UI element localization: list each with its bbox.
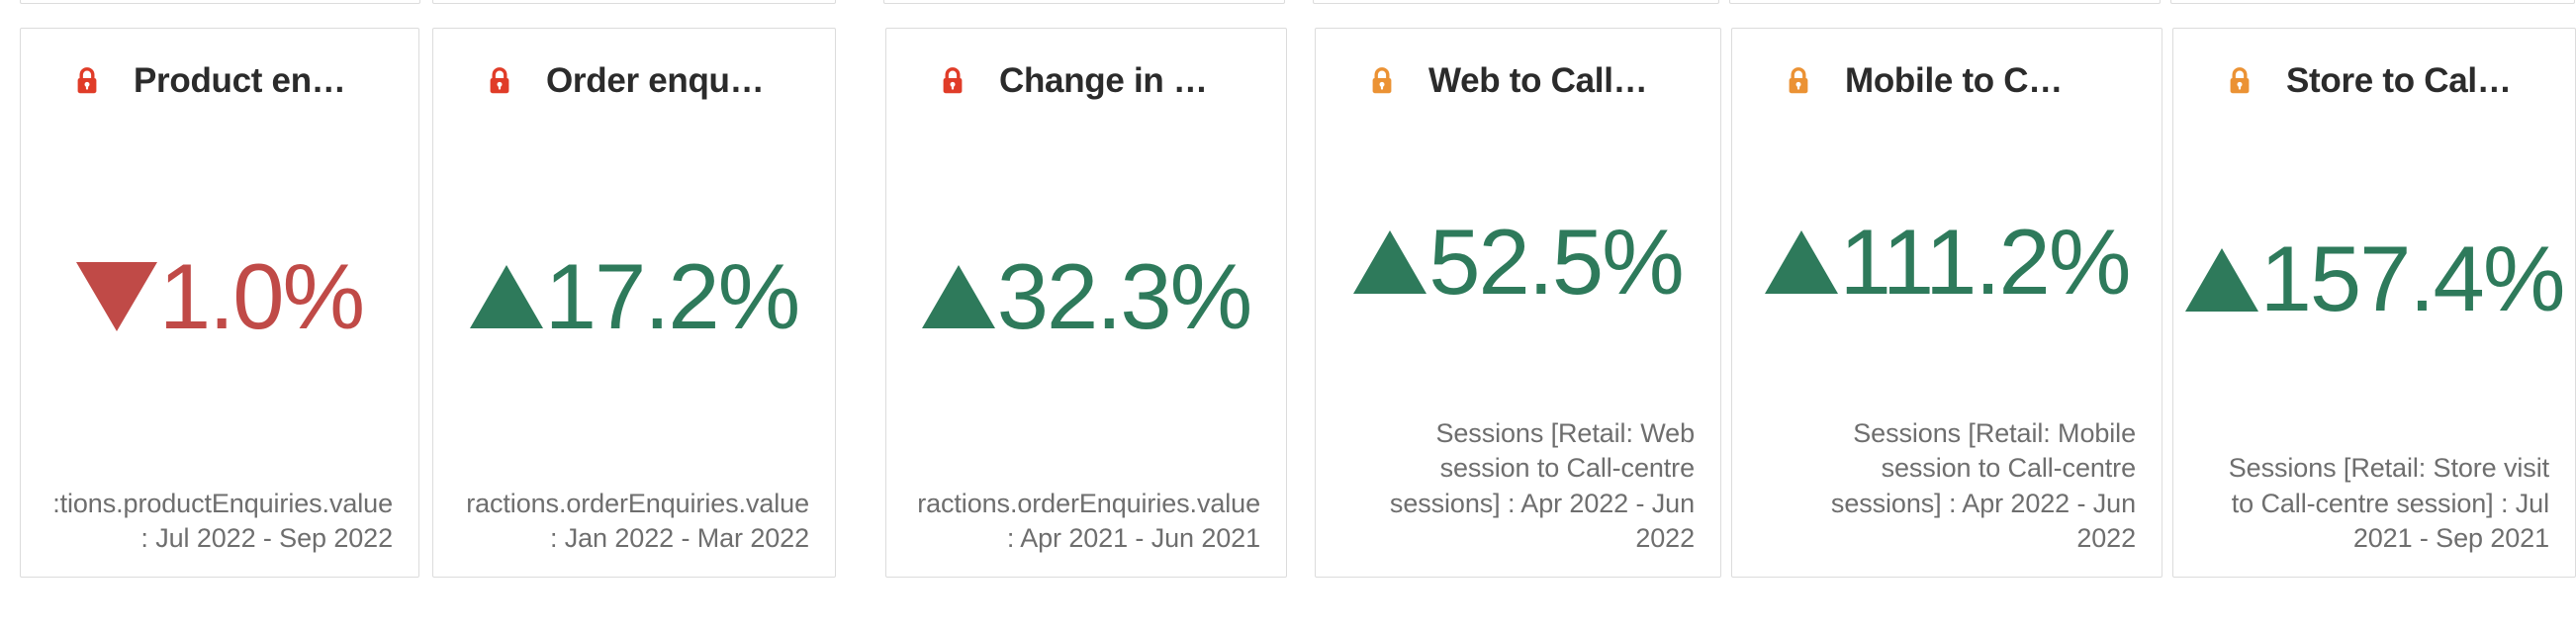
kpi-value: 32.3% — [997, 252, 1251, 341]
scorecard-tile[interactable]: Mobile to C… 111.2% Sessions [Retail: Mo… — [1731, 28, 2162, 578]
lock-icon — [74, 66, 100, 96]
tile-title: Mobile to C… — [1845, 61, 2063, 101]
footer-line: session to Call-centre — [1758, 451, 2136, 487]
tile-title: Change in … — [999, 61, 1208, 101]
footer-line: sessions] : Apr 2022 - Jun — [1341, 487, 1695, 522]
kpi-value: 1.0% — [159, 252, 363, 341]
previous-row-tile — [432, 0, 836, 4]
kpi: 17.2% — [470, 252, 799, 341]
previous-row-tile — [1729, 0, 2161, 4]
previous-row-tile — [2170, 0, 2575, 4]
tile-value-area: 157.4% — [2199, 108, 2549, 451]
kpi: 52.5% — [1353, 218, 1683, 307]
tile-value-area: 52.5% — [1341, 108, 1695, 416]
triangle-up-icon — [922, 265, 995, 328]
previous-row-tile — [1313, 0, 1719, 4]
triangle-up-icon — [470, 265, 543, 328]
scorecard-tiles: Product en… 1.0% :tions.productEnquiries… — [0, 28, 2576, 578]
tile-header: Product en… — [46, 54, 393, 108]
previous-row-tile — [883, 0, 1285, 4]
footer-line: ractions.orderEnquiries.value — [912, 487, 1260, 522]
lock-icon — [1786, 66, 1811, 96]
tile-footer: Sessions [Retail: Mobile session to Call… — [1758, 416, 2136, 560]
tile-footer: ractions.orderEnquiries.value : Jan 2022… — [459, 487, 809, 559]
scorecard-tile[interactable]: Product en… 1.0% :tions.productEnquiries… — [20, 28, 419, 578]
kpi-value: 52.5% — [1428, 218, 1683, 307]
tile-header: Web to Call… — [1341, 54, 1695, 108]
scorecard-tile[interactable]: Web to Call… 52.5% Sessions [Retail: Web… — [1315, 28, 1721, 578]
previous-row-clipped — [0, 0, 2576, 4]
tile-footer: ractions.orderEnquiries.value : Apr 2021… — [912, 487, 1260, 559]
kpi-value: 111.2% — [1840, 218, 2130, 307]
tile-value-area: 32.3% — [912, 108, 1260, 487]
scorecard-tile[interactable]: Store to Cal… 157.4% Sessions [Retail: S… — [2172, 28, 2576, 578]
lock-icon — [940, 66, 966, 96]
footer-line: Sessions [Retail: Mobile — [1758, 416, 2136, 452]
footer-line: 2021 - Sep 2021 — [2199, 521, 2549, 557]
scorecard-tile[interactable]: Order enqu… 17.2% ractions.orderEnquirie… — [432, 28, 836, 578]
triangle-up-icon — [2185, 248, 2258, 312]
tile-title: Product en… — [134, 61, 346, 101]
kpi-value: 157.4% — [2260, 234, 2564, 323]
dashboard-scorecard-row: Product en… 1.0% :tions.productEnquiries… — [0, 0, 2576, 631]
tile-header: Order enqu… — [459, 54, 809, 108]
lock-icon — [1369, 66, 1395, 96]
tile-footer: :tions.productEnquiries.value : Jul 2022… — [46, 487, 393, 559]
footer-line: session to Call-centre — [1341, 451, 1695, 487]
kpi-value: 17.2% — [545, 252, 799, 341]
footer-line: Sessions [Retail: Store visit — [2199, 451, 2549, 487]
footer-line: sessions] : Apr 2022 - Jun — [1758, 487, 2136, 522]
footer-line: to Call-centre session] : Jul — [2199, 487, 2549, 522]
triangle-up-icon — [1353, 230, 1426, 294]
kpi: 111.2% — [1765, 218, 2130, 307]
footer-line: :tions.productEnquiries.value — [46, 487, 393, 522]
tile-footer: Sessions [Retail: Store visit to Call-ce… — [2199, 451, 2549, 559]
tile-value-area: 17.2% — [459, 108, 809, 487]
previous-row-tile — [20, 0, 420, 4]
tile-header: Mobile to C… — [1758, 54, 2136, 108]
footer-line: Sessions [Retail: Web — [1341, 416, 1695, 452]
lock-icon — [2227, 66, 2253, 96]
kpi: 32.3% — [922, 252, 1251, 341]
tile-header: Change in … — [912, 54, 1260, 108]
tile-value-area: 111.2% — [1758, 108, 2136, 416]
kpi: 1.0% — [76, 252, 363, 341]
triangle-up-icon — [1765, 230, 1838, 294]
tile-footer: Sessions [Retail: Web session to Call-ce… — [1341, 416, 1695, 560]
tile-title: Store to Cal… — [2286, 61, 2512, 101]
footer-line: : Apr 2021 - Jun 2021 — [912, 521, 1260, 557]
tile-value-area: 1.0% — [46, 108, 393, 487]
footer-line: ractions.orderEnquiries.value — [459, 487, 809, 522]
scorecard-tile[interactable]: Change in … 32.3% ractions.orderEnquirie… — [885, 28, 1287, 578]
footer-line: : Jan 2022 - Mar 2022 — [459, 521, 809, 557]
tile-title: Order enqu… — [546, 61, 764, 101]
lock-icon — [487, 66, 512, 96]
kpi: 157.4% — [2185, 234, 2564, 323]
footer-line: : Jul 2022 - Sep 2022 — [46, 521, 393, 557]
triangle-down-icon — [76, 262, 157, 331]
tile-header: Store to Cal… — [2199, 54, 2549, 108]
footer-line: 2022 — [1341, 521, 1695, 557]
tile-title: Web to Call… — [1428, 61, 1647, 101]
footer-line: 2022 — [1758, 521, 2136, 557]
